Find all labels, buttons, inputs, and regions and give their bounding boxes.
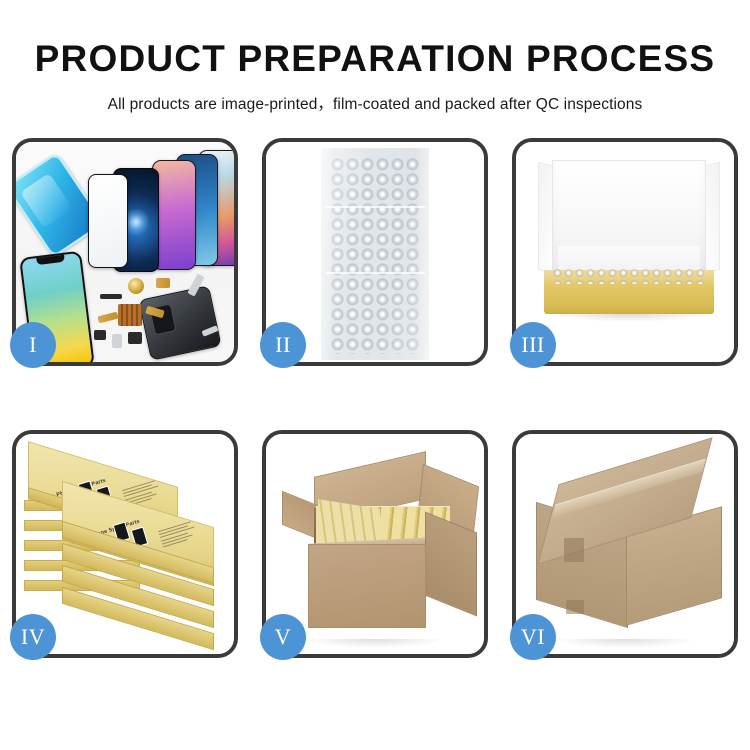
- step-panel-2: II: [262, 138, 488, 366]
- step-badge-6: VI: [510, 614, 556, 660]
- step-panel-3: III: [512, 138, 738, 366]
- part-camera: [94, 330, 106, 340]
- page-subtitle: All products are image-printed，film-coat…: [0, 92, 750, 114]
- part-logic-board: [118, 304, 142, 326]
- sealed-carton-shadow: [555, 639, 695, 648]
- carton-front-face: [308, 544, 426, 628]
- step-badge-3: III: [510, 322, 556, 368]
- bubble-wrap-highlight: [321, 148, 429, 360]
- step-badge-2: II: [260, 322, 306, 368]
- yellow-tray-body: [544, 284, 714, 314]
- open-carton: [278, 460, 478, 636]
- phone-back-panel: [138, 285, 221, 361]
- part-flex-cable-a: [156, 278, 170, 288]
- step-panel-6: VI: [512, 430, 738, 658]
- step-badge-5: V: [260, 614, 306, 660]
- step-panel-4: Mobile Phone Spare Parts Mobile Phone Sp…: [12, 430, 238, 658]
- part-speaker: [100, 294, 122, 299]
- bubble-wrap-sheet: [321, 148, 429, 360]
- carton-tab-upper: [564, 538, 584, 562]
- part-gold-coil: [128, 278, 144, 294]
- step-badge-1: I: [10, 322, 56, 368]
- product-preparation-infographic: PRODUCT PREPARATION PROCESS All products…: [0, 0, 750, 750]
- box-stack: Mobile Phone Spare Parts Mobile Phone Sp…: [24, 448, 230, 644]
- carton-tab-lower: [566, 600, 584, 614]
- box-shadow: [550, 314, 708, 322]
- sealed-carton: [530, 464, 726, 630]
- tempered-glass-film: [88, 174, 128, 268]
- steps-grid: I II: [12, 138, 738, 694]
- step-badge-4: IV: [10, 614, 56, 660]
- page-title: PRODUCT PREPARATION PROCESS: [0, 38, 750, 80]
- header: PRODUCT PREPARATION PROCESS All products…: [0, 0, 750, 114]
- part-flex-cable-b: [97, 312, 118, 324]
- part-vibrator: [128, 332, 142, 344]
- part-battery-connector: [112, 334, 122, 348]
- step-panel-5: V: [262, 430, 488, 658]
- step-panel-1: I: [12, 138, 238, 366]
- carton-shadow: [305, 639, 445, 648]
